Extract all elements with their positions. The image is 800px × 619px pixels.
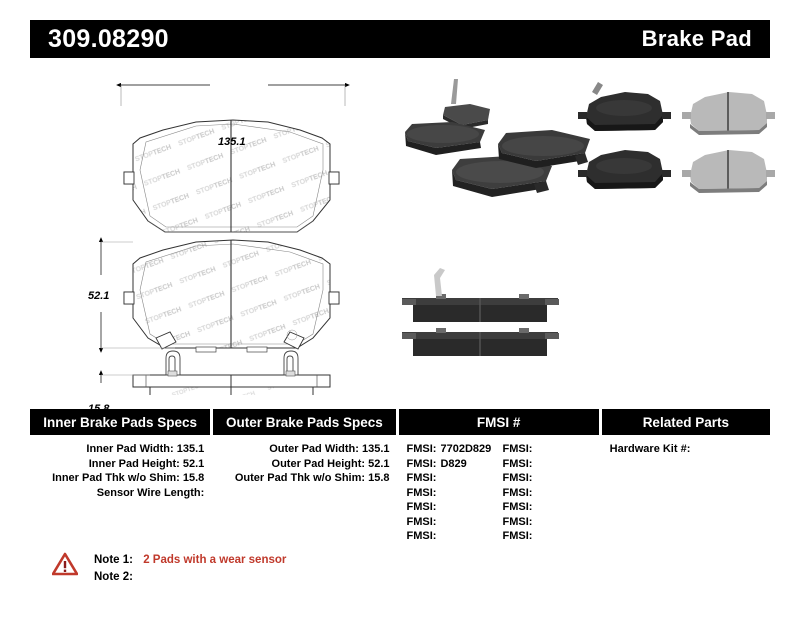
fmsi-value	[532, 487, 536, 499]
fmsi-row: FMSI:	[503, 471, 599, 486]
related-part-item: Hardware Kit #:	[610, 442, 770, 457]
header-inner-brake-pads-specs: Inner Brake Pads Specs	[30, 409, 210, 435]
fmsi-row: FMSI:	[503, 529, 599, 544]
fmsi-row: FMSI:	[503, 486, 599, 501]
fmsi-label: FMSI:	[503, 516, 533, 528]
fmsi-value: 7702D829	[436, 443, 491, 455]
notes-text-block: Note 1: 2 Pads with a wear sensor Note 2…	[94, 552, 286, 586]
fmsi-value	[436, 516, 440, 528]
fmsi-label: FMSI:	[407, 501, 437, 513]
outer-specs-cell: Outer Pad Width: 135.1 Outer Pad Height:…	[213, 442, 395, 544]
fmsi-value	[532, 443, 536, 455]
fmsi-label: FMSI:	[407, 443, 437, 455]
fmsi-value	[532, 458, 536, 470]
height-dimension-label: 52.1	[88, 290, 109, 302]
fmsi-value	[436, 472, 440, 484]
notes-section: Note 1: 2 Pads with a wear sensor Note 2…	[52, 552, 286, 586]
fmsi-row: FMSI:D829	[407, 457, 503, 472]
fmsi-label: FMSI:	[503, 472, 533, 484]
inner-spec-item: Inner Pad Width: 135.1	[30, 442, 204, 457]
brake-pad-line-drawings: STOPTECH STOPTECH	[0, 60, 800, 395]
part-number: 309.08290	[48, 25, 169, 54]
header-outer-brake-pads-specs: Outer Brake Pads Specs	[213, 409, 395, 435]
fmsi-value	[532, 501, 536, 513]
fmsi-label: FMSI:	[407, 516, 437, 528]
fmsi-label: FMSI:	[407, 458, 437, 470]
fmsi-row: FMSI:	[407, 515, 503, 530]
outer-spec-item: Outer Pad Thk w/o Shim: 15.8	[213, 471, 389, 486]
fmsi-value	[532, 472, 536, 484]
technical-drawing-area: STOPTECH STOPTECH	[0, 60, 800, 395]
fmsi-row: FMSI:	[503, 500, 599, 515]
fmsi-row: FMSI:	[503, 457, 599, 472]
fmsi-row: FMSI:	[407, 471, 503, 486]
fmsi-label: FMSI:	[503, 443, 533, 455]
fmsi-label: FMSI:	[503, 530, 533, 542]
fmsi-column-1: FMSI:7702D829 FMSI:D829 FMSI: FMSI: FMSI…	[407, 442, 503, 544]
fmsi-column-2: FMSI: FMSI: FMSI: FMSI: FMSI: FMSI: FMSI…	[503, 442, 599, 544]
header-related-parts: Related Parts	[602, 409, 770, 435]
pad-edge-view	[133, 351, 330, 395]
product-photo-perspective-group	[405, 79, 590, 197]
note-2-label: Note 2:	[94, 569, 140, 586]
document-header: 309.08290 Brake Pad	[30, 20, 770, 58]
inner-spec-item: Inner Pad Height: 52.1	[30, 457, 204, 472]
specifications-table: Inner Brake Pads Specs Outer Brake Pads …	[30, 409, 770, 544]
fmsi-label: FMSI:	[503, 458, 533, 470]
inner-specs-cell: Inner Pad Width: 135.1 Inner Pad Height:…	[30, 442, 210, 544]
fmsi-value	[436, 530, 440, 542]
pad-front-view-2-with-sensor	[124, 240, 339, 352]
fmsi-row: FMSI:	[407, 529, 503, 544]
fmsi-value	[436, 501, 440, 513]
fmsi-row: FMSI:	[407, 500, 503, 515]
note-1-label: Note 1:	[94, 552, 140, 569]
product-photo-grid-group	[578, 82, 775, 193]
spec-table-body-row: Inner Pad Width: 135.1 Inner Pad Height:…	[30, 442, 770, 544]
fmsi-row: FMSI:7702D829	[407, 442, 503, 457]
spec-table-header-row: Inner Brake Pads Specs Outer Brake Pads …	[30, 409, 770, 435]
fmsi-label: FMSI:	[503, 501, 533, 513]
width-dimension-line	[121, 85, 345, 106]
fmsi-cell: FMSI:7702D829 FMSI:D829 FMSI: FMSI: FMSI…	[399, 442, 599, 544]
product-type-title: Brake Pad	[642, 26, 752, 52]
outer-spec-item: Outer Pad Height: 52.1	[213, 457, 389, 472]
warning-icon	[52, 552, 78, 576]
fmsi-label: FMSI:	[503, 487, 533, 499]
header-fmsi: FMSI #	[399, 409, 599, 435]
fmsi-label: FMSI:	[407, 487, 437, 499]
fmsi-row: FMSI:	[503, 442, 599, 457]
related-parts-cell: Hardware Kit #:	[602, 442, 770, 544]
width-dimension-label: 135.1	[218, 136, 246, 148]
note-2-line: Note 2:	[94, 569, 286, 586]
fmsi-value	[532, 530, 536, 542]
fmsi-label: FMSI:	[407, 472, 437, 484]
fmsi-row: FMSI:	[503, 515, 599, 530]
fmsi-value	[436, 487, 440, 499]
fmsi-label: FMSI:	[407, 530, 437, 542]
outer-spec-item: Outer Pad Width: 135.1	[213, 442, 389, 457]
fmsi-value: D829	[436, 458, 466, 470]
inner-spec-item: Inner Pad Thk w/o Shim: 15.8	[30, 471, 204, 486]
fmsi-value	[532, 516, 536, 528]
note-1-line: Note 1: 2 Pads with a wear sensor	[94, 552, 286, 569]
inner-spec-item: Sensor Wire Length:	[30, 486, 204, 501]
fmsi-row: FMSI:	[407, 486, 503, 501]
product-photo-edge-views	[402, 268, 559, 356]
note-1-value: 2 Pads with a wear sensor	[143, 554, 286, 566]
